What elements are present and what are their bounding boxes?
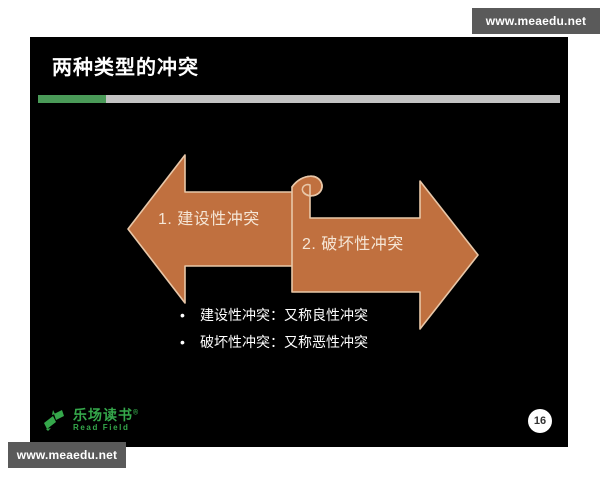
conflict-definition-list: • 建设性冲突：又称良性冲突 • 破坏性冲突：又称恶性冲突 [180, 307, 510, 361]
watermark-bottom: www.meaedu.net [8, 442, 126, 468]
slide-page-number: 16 [528, 409, 552, 433]
watermark-top-text: www.meaedu.net [486, 14, 586, 28]
list-item: • 建设性冲突：又称良性冲突 [180, 307, 510, 323]
arrows-graphic [30, 37, 568, 447]
bullet-marker-icon: • [180, 334, 200, 350]
open-book-icon [42, 407, 68, 433]
watermark-top: www.meaedu.net [472, 8, 600, 34]
bullet-marker-icon: • [180, 307, 200, 323]
destructive-conflict-arrow-label: 2. 破坏性冲突 [302, 230, 404, 254]
brand-name-cn: 乐场读书® [73, 408, 139, 423]
registered-trademark-icon: ® [133, 409, 139, 416]
two-type-conflict-diagram: 1. 建设性冲突 2. 破坏性冲突 [30, 37, 568, 447]
list-item-text: 建设性冲突：又称良性冲突 [200, 307, 368, 323]
constructive-conflict-arrow-shape [128, 155, 298, 303]
constructive-conflict-arrow-label: 1. 建设性冲突 [158, 205, 260, 229]
list-item-text: 破坏性冲突：又称恶性冲突 [200, 334, 368, 350]
list-item: • 破坏性冲突：又称恶性冲突 [180, 334, 510, 350]
watermark-bottom-text: www.meaedu.net [17, 448, 117, 462]
brand-logo-text: 乐场读书® Read Field [73, 408, 139, 432]
brand-logo: 乐场读书® Read Field [42, 407, 139, 433]
brand-name-cn-text: 乐场读书 [73, 407, 133, 423]
presentation-slide: 两种类型的冲突 1. 建设性冲突 2. 破坏性冲突 • 建设性冲突：又称良性冲突… [30, 37, 568, 447]
brand-name-en: Read Field [73, 423, 139, 433]
